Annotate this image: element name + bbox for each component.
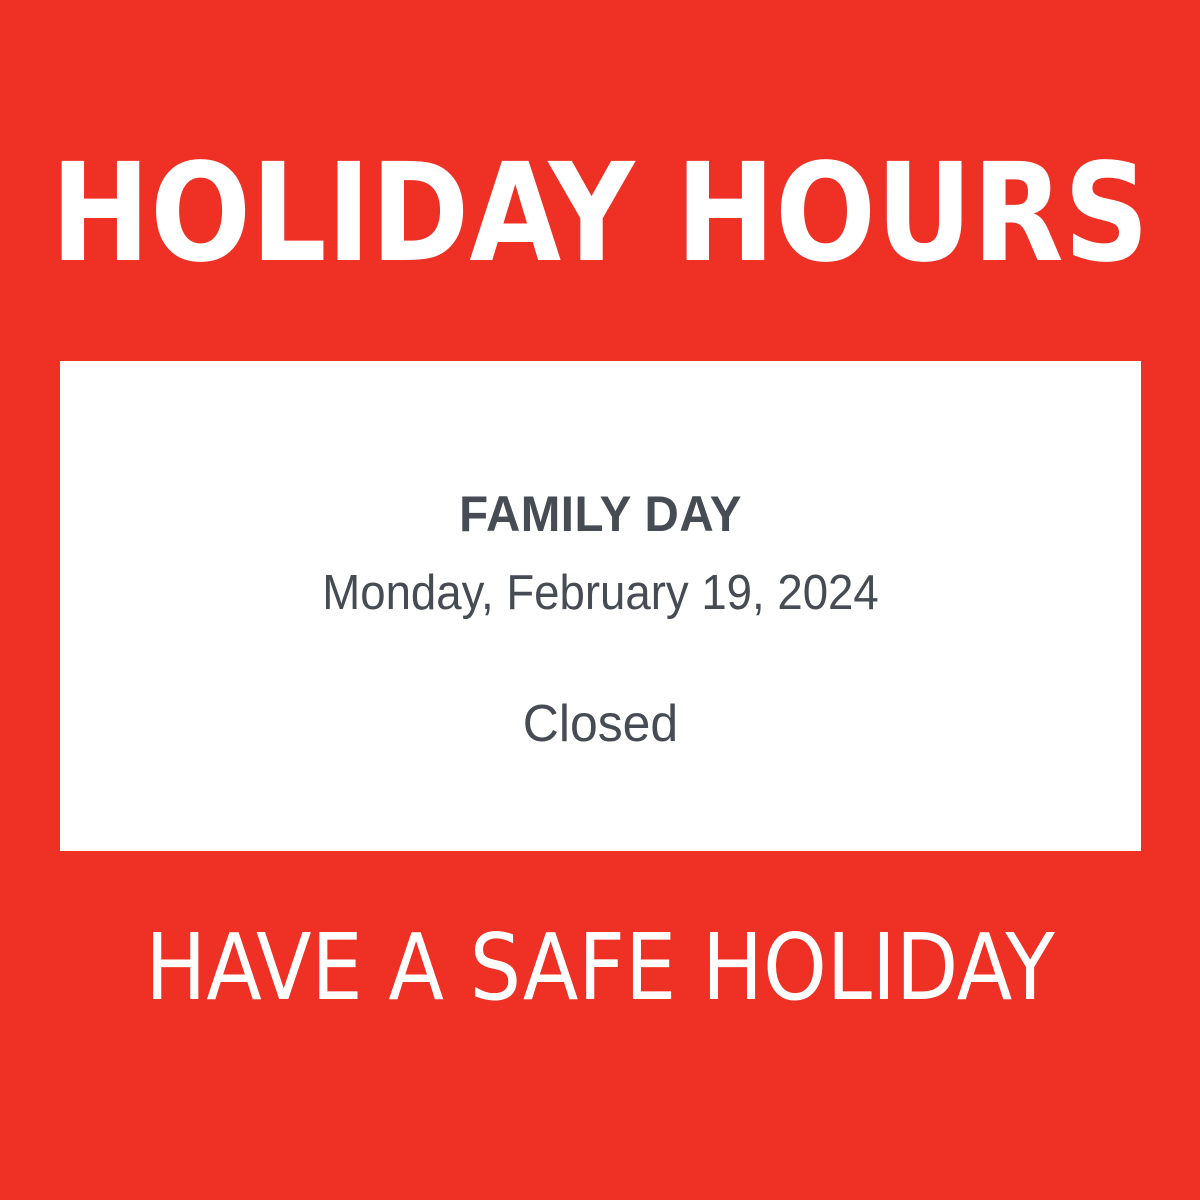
holiday-date: Monday, February 19, 2024 <box>98 565 1103 621</box>
holiday-hours-sign: HOLIDAY HOURS FAMILY DAY Monday, Februar… <box>0 0 1200 1200</box>
page-title: HOLIDAY HOURS <box>18 146 1182 282</box>
holiday-name: FAMILY DAY <box>87 486 1114 542</box>
footer-message: HAVE A SAFE HOLIDAY <box>12 922 1188 1014</box>
status-badge: Closed <box>82 695 1120 753</box>
holiday-notice-card: FAMILY DAY Monday, February 19, 2024 Clo… <box>60 361 1141 851</box>
holiday-notice-card-content: FAMILY DAY Monday, February 19, 2024 Clo… <box>60 361 1141 851</box>
